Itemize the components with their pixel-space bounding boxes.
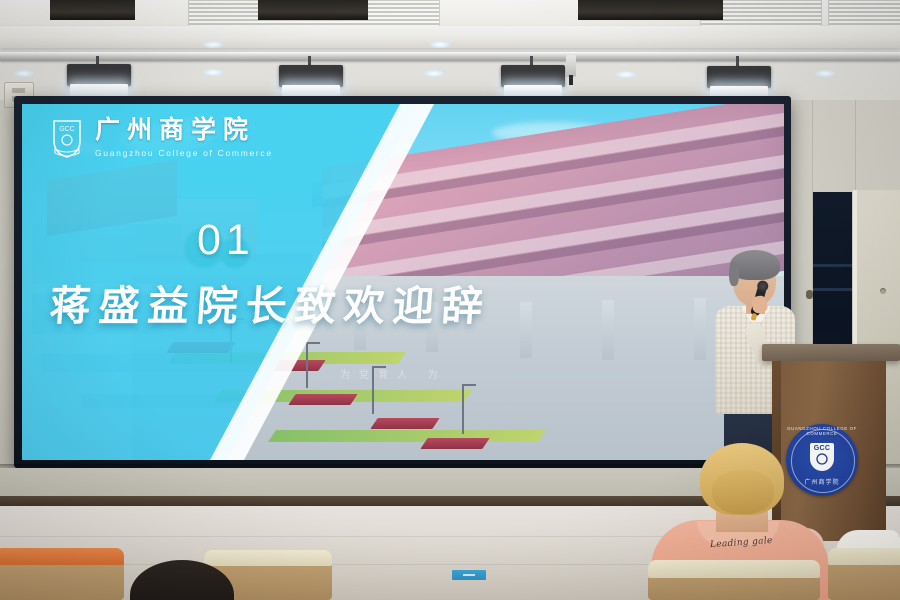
led-screen-display[interactable]: 为党育人 为 GCC 广州商学院 Guangzhou College of Co… xyxy=(22,104,784,460)
podium-seal-cn-text: 广州商学院 xyxy=(786,477,858,486)
spotlight-1 xyxy=(67,64,131,86)
plaza-bench-3 xyxy=(288,394,357,405)
downlight-3 xyxy=(424,70,444,77)
podium-seal: GUANGZHOU COLLEGE OF COMMERCE GCC 广州商学院 xyxy=(786,424,858,496)
spotlight-4 xyxy=(707,66,771,88)
ceiling-microphone xyxy=(566,55,576,77)
gcc-crest-icon: GCC xyxy=(50,118,84,158)
speaker-sideburn xyxy=(729,262,739,286)
floor-marker-tape xyxy=(452,570,486,580)
attendee-blond-bun xyxy=(712,470,774,514)
downlight-5 xyxy=(815,70,835,77)
spotlight-2 xyxy=(279,65,343,87)
building-pillar-4 xyxy=(602,300,614,360)
plaza-lamp-2 xyxy=(306,342,308,388)
slide-title: 蒋盛益院长致欢迎辞 xyxy=(48,272,493,332)
plaza-lamp-4 xyxy=(462,384,464,434)
slide-logo: GCC 广州商学院 Guangzhou College of Commerce xyxy=(50,118,273,158)
chair-cushion-4 xyxy=(828,548,900,565)
ceiling-soffit xyxy=(0,26,900,48)
plaza-bench-5 xyxy=(420,438,489,449)
recess-shelf-1 xyxy=(813,264,852,267)
svg-text:GCC: GCC xyxy=(59,126,75,133)
plaza-walkway-3 xyxy=(268,430,546,442)
podium-lectern-top xyxy=(762,344,900,361)
chair-cushion-2 xyxy=(204,550,332,566)
podium-seal-shield: GCC xyxy=(810,443,834,471)
slide-background-motto: 为党育人 为 xyxy=(340,366,447,381)
downlight-2 xyxy=(203,69,223,76)
podium-seal-arc-text: GUANGZHOU COLLEGE OF COMMERCE xyxy=(786,426,858,436)
ceiling-dark-panel-2 xyxy=(258,0,368,20)
ceiling-dark-panel-1 xyxy=(50,0,135,20)
downlight-7 xyxy=(430,41,450,48)
podium-left-edge xyxy=(772,361,781,541)
building-pillar-3 xyxy=(520,302,532,358)
spotlight-3 xyxy=(501,65,565,87)
chair-cushion-3 xyxy=(648,560,820,578)
slide-logo-name-cn: 广州商学院 xyxy=(95,118,273,143)
slide-section-number: 01 xyxy=(197,216,255,265)
chair-cushion-1 xyxy=(0,548,124,565)
recess-shelf-2 xyxy=(813,288,852,291)
screenshot-root: 为党育人 为 GCC 广州商学院 Guangzhou College of Co… xyxy=(0,0,900,600)
ceiling-dark-panel-3 xyxy=(578,0,723,20)
slide-logo-name-en: Guangzhou College of Commerce xyxy=(95,148,273,158)
downlight-6 xyxy=(203,41,223,48)
wall-hook xyxy=(806,290,813,299)
building-pillar-5 xyxy=(694,298,706,360)
plaza-bench-4 xyxy=(370,418,439,429)
downlight-4 xyxy=(616,71,636,78)
downlight-1 xyxy=(14,70,34,77)
wall-panel-screw xyxy=(880,288,886,294)
ceiling xyxy=(0,0,900,100)
ceiling-truss-rail xyxy=(0,52,900,61)
hvac-vent-3 xyxy=(828,0,900,27)
